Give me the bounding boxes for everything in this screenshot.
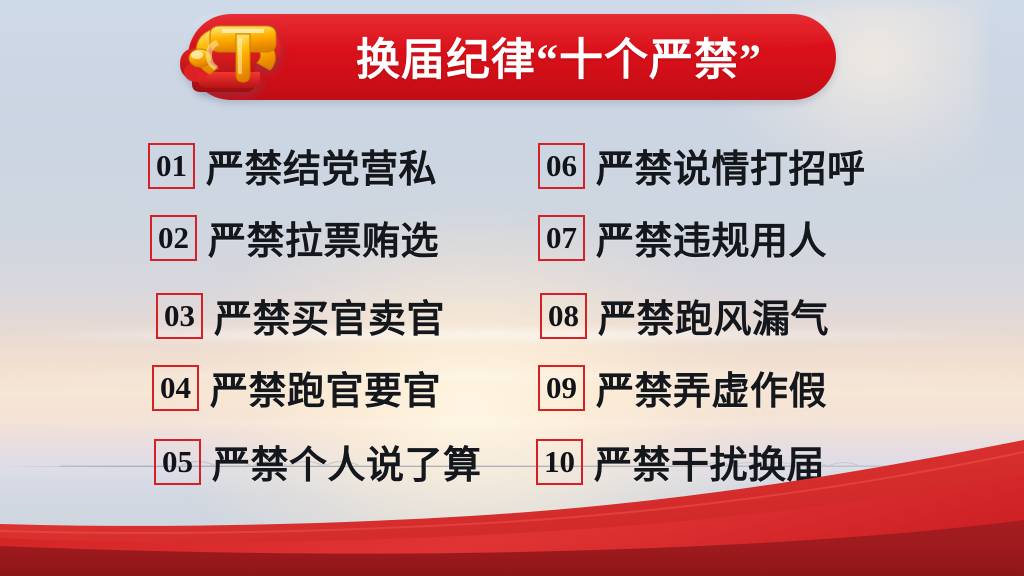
- item-label: 严禁买官卖官: [214, 288, 445, 343]
- item-number-badge: 10: [536, 439, 583, 485]
- item-number-badge: 08: [540, 293, 587, 339]
- item-label: 严禁违规用人: [596, 210, 827, 265]
- item-label: 严禁个人说了算: [212, 434, 482, 489]
- item-label: 严禁拉票贿选: [208, 210, 439, 265]
- item-number-badge: 01: [148, 143, 195, 189]
- list-item[interactable]: 06 严禁说情打招呼: [538, 138, 866, 193]
- item-number-badge: 07: [538, 215, 585, 261]
- list-item[interactable]: 02 严禁拉票贿选: [150, 210, 439, 265]
- item-label: 严禁跑官要官: [210, 360, 441, 415]
- list-item[interactable]: 09 严禁弄虚作假: [538, 360, 827, 415]
- item-number-badge: 05: [154, 439, 201, 485]
- item-number-badge: 04: [152, 365, 199, 411]
- poster-canvas: 换届纪律“十个严禁”: [0, 0, 1024, 576]
- item-label: 严禁说情打招呼: [596, 138, 866, 193]
- party-emblem-hammer-sickle-icon: [166, 10, 318, 106]
- item-number-badge: 02: [150, 215, 197, 261]
- list-item[interactable]: 03 严禁买官卖官: [156, 288, 445, 343]
- item-label: 严禁干扰换届: [594, 434, 825, 489]
- list-item[interactable]: 07 严禁违规用人: [538, 210, 827, 265]
- item-label: 严禁跑风漏气: [598, 288, 829, 343]
- item-number-badge: 03: [156, 293, 203, 339]
- item-number-badge: 06: [538, 143, 585, 189]
- left-column: 01 严禁结党营私 02 严禁拉票贿选 03 严禁买官卖官 04 严禁跑官要官 …: [148, 132, 568, 492]
- list-item[interactable]: 08 严禁跑风漏气: [540, 288, 829, 343]
- list-item[interactable]: 01 严禁结党营私: [148, 138, 437, 193]
- list-item[interactable]: 10 严禁干扰换届: [536, 434, 825, 489]
- right-column: 06 严禁说情打招呼 07 严禁违规用人 08 严禁跑风漏气 09 严禁弄虚作假…: [536, 132, 956, 492]
- item-number-badge: 09: [538, 365, 585, 411]
- page-title: 换届纪律“十个严禁”: [306, 24, 812, 88]
- rules-list: 01 严禁结党营私 02 严禁拉票贿选 03 严禁买官卖官 04 严禁跑官要官 …: [0, 132, 1024, 492]
- item-label: 严禁弄虚作假: [596, 360, 827, 415]
- item-label: 严禁结党营私: [206, 138, 437, 193]
- list-item[interactable]: 04 严禁跑官要官: [152, 360, 441, 415]
- list-item[interactable]: 05 严禁个人说了算: [154, 434, 482, 489]
